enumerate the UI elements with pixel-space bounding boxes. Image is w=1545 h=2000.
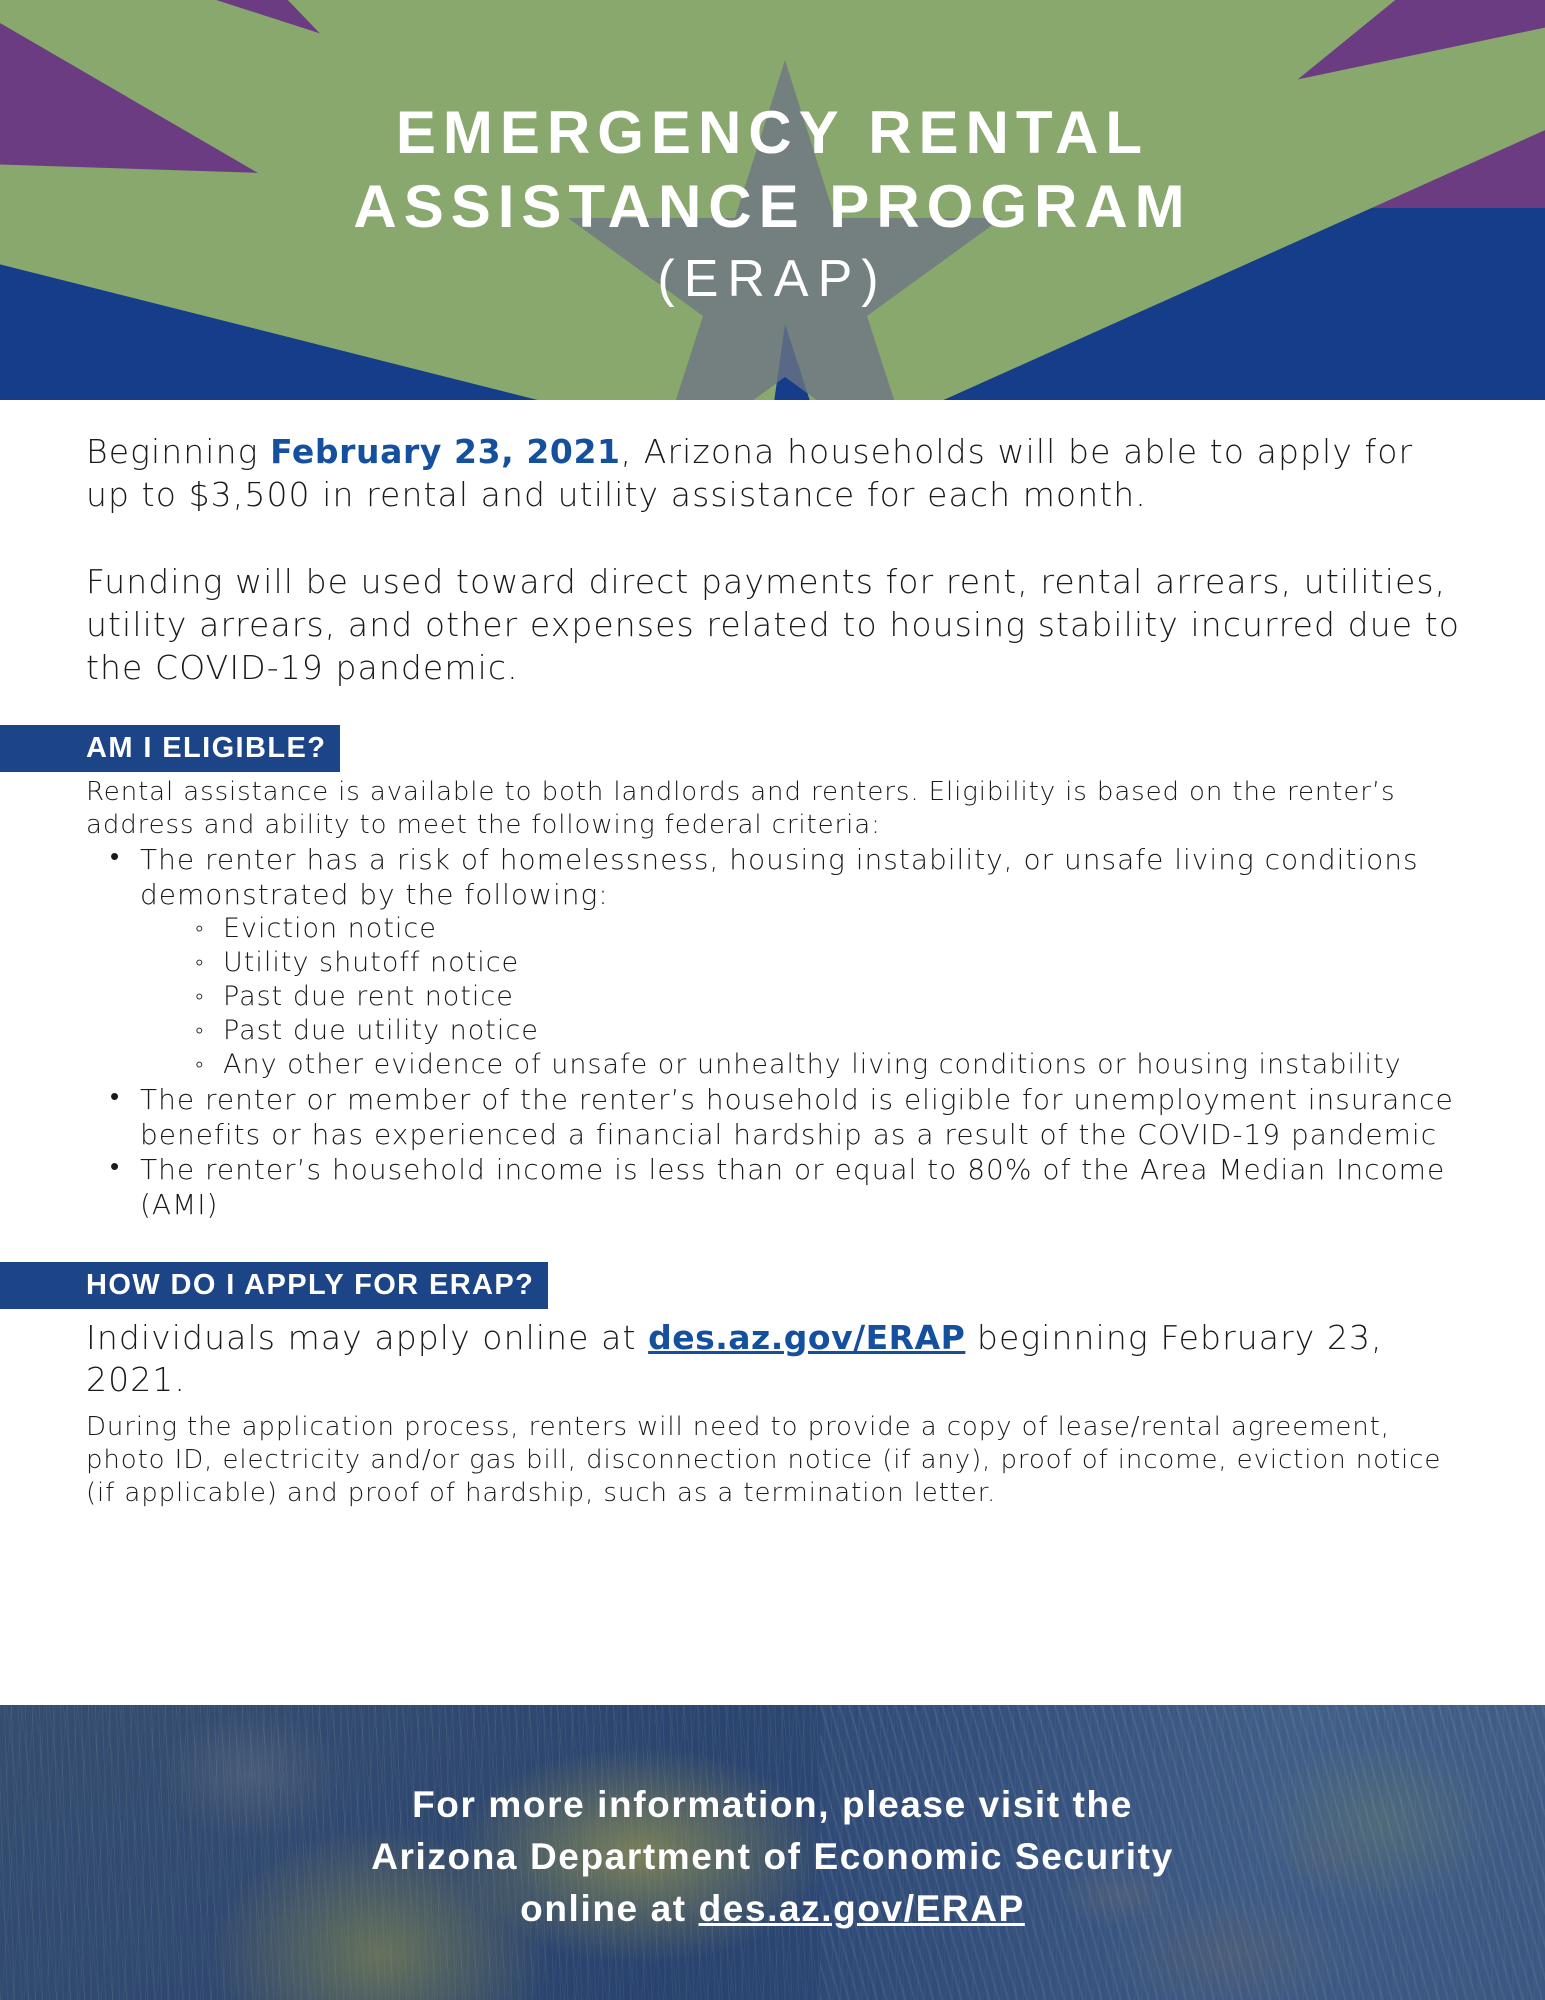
footer-text-block: For more information, please visit the A… [0,1705,1545,2000]
footer-erap-link[interactable]: des.az.gov/ERAP [699,1888,1025,1929]
erap-link[interactable]: des.az.gov/ERAP [648,1318,965,1357]
apply-lead-text: Individuals may apply online at des.az.g… [0,1309,1545,1401]
eligibility-sub-item: Any other evidence of unsafe or unhealth… [195,1048,1475,1082]
intro-p1-date: February 23, 2021 [270,432,621,471]
page-title-line-3: (ERAP) [657,248,887,310]
intro-p1-pre: Beginning [86,432,270,471]
eligibility-sub-item: Eviction notice [195,912,1475,946]
footer-line-1: For more information, please visit the [412,1779,1133,1831]
intro-paragraph-1: Beginning February 23, 2021, Arizona hou… [86,430,1461,516]
eligibility-bullet: The renter has a risk of homelessness, h… [110,842,1475,1082]
eligibility-bullet: The renter’s household income is less th… [110,1152,1475,1222]
footer-line-2: Arizona Department of Economic Security [371,1831,1174,1883]
apply-detail-text: During the application process, renters … [0,1401,1545,1510]
footer-banner: For more information, please visit the A… [0,1705,1545,2000]
apply-lead-pre: Individuals may apply online at [86,1318,648,1357]
section-heading-how-do-i-apply: HOW DO I APPLY FOR ERAP? [0,1262,548,1309]
eligibility-bullet-text: The renter’s household income is less th… [140,1153,1445,1221]
eligibility-sub-item: Past due rent notice [195,980,1475,1014]
apply-heading-wrap: HOW DO I APPLY FOR ERAP? [0,1262,1545,1309]
header-banner: EMERGENCY RENTAL ASSISTANCE PROGRAM (ERA… [0,0,1545,400]
section-heading-am-i-eligible: AM I ELIGIBLE? [0,725,340,772]
header-title-block: EMERGENCY RENTAL ASSISTANCE PROGRAM (ERA… [0,0,1545,400]
eligibility-bullet-text: The renter has a risk of homelessness, h… [140,843,1419,911]
flyer-page: EMERGENCY RENTAL ASSISTANCE PROGRAM (ERA… [0,0,1545,2000]
eligibility-sub-list: Eviction noticeUtility shutoff noticePas… [140,912,1475,1082]
eligibility-bullet: The renter or member of the renter’s hou… [110,1082,1475,1152]
eligibility-bullet-list: The renter has a risk of homelessness, h… [0,842,1545,1222]
eligibility-bullet-text: The renter or member of the renter’s hou… [140,1083,1454,1151]
intro-paragraph-2: Funding will be used toward direct payme… [86,560,1461,689]
eligibility-sub-item: Past due utility notice [195,1014,1475,1048]
footer-line-3-pre: online at [520,1888,698,1929]
body-content: Beginning February 23, 2021, Arizona hou… [0,400,1545,1705]
eligibility-sub-item: Utility shutoff notice [195,946,1475,980]
eligible-intro-text: Rental assistance is available to both l… [0,772,1545,842]
footer-line-3: online at des.az.gov/ERAP [520,1883,1025,1935]
page-title-line-1: EMERGENCY RENTAL [396,96,1149,170]
eligible-heading-wrap: AM I ELIGIBLE? [0,725,1545,772]
intro-block: Beginning February 23, 2021, Arizona hou… [0,430,1545,689]
page-title-line-2: ASSISTANCE PROGRAM [353,170,1191,244]
